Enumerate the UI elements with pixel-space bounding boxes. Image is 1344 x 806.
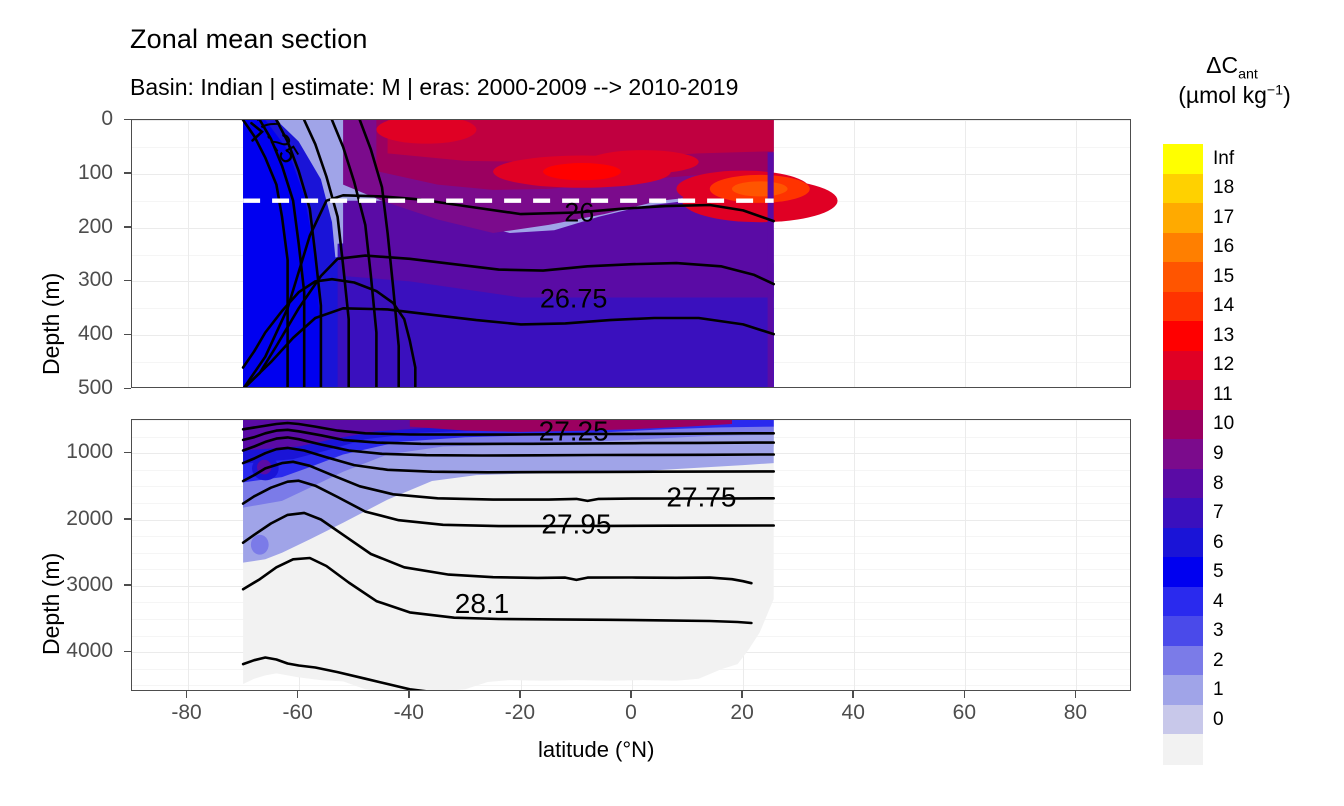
x-tick bbox=[741, 691, 743, 698]
y-tick-label-deep: 4000 bbox=[66, 639, 113, 663]
contour-label: 27.25 bbox=[539, 420, 609, 447]
contour-label: 27.75 bbox=[666, 481, 736, 512]
y-tick-upper bbox=[124, 119, 131, 121]
legend-tick-label: 8 bbox=[1213, 473, 1224, 495]
y-tick-deep bbox=[124, 584, 131, 586]
legend-tick-label: 18 bbox=[1213, 177, 1234, 199]
legend-tick-label: 7 bbox=[1213, 502, 1224, 524]
x-tick bbox=[1075, 691, 1077, 698]
legend-tick-label: 14 bbox=[1213, 295, 1234, 317]
legend-tick-label: 13 bbox=[1213, 325, 1234, 347]
y-tick-label-deep: 1000 bbox=[66, 440, 113, 464]
legend-color-swatch bbox=[1163, 321, 1203, 351]
upper-ocean-panel: 27.252626.75 bbox=[131, 119, 1131, 388]
y-tick-upper bbox=[124, 334, 131, 336]
x-tick bbox=[852, 691, 854, 698]
legend-tick-label: Inf bbox=[1213, 148, 1234, 170]
legend-color-swatch bbox=[1163, 616, 1203, 646]
x-tick bbox=[630, 691, 632, 698]
contour-label: 28.1 bbox=[455, 588, 510, 619]
y-tick-label-upper: 100 bbox=[78, 161, 113, 185]
y-tick-deep bbox=[124, 518, 131, 520]
legend-title-units: (µmol kg−1) bbox=[1142, 82, 1327, 109]
legend-tick-label: 1 bbox=[1213, 679, 1224, 701]
y-tick-deep bbox=[124, 452, 131, 454]
legend-color-swatch bbox=[1163, 469, 1203, 499]
legend-color-swatch bbox=[1163, 292, 1203, 322]
legend-color-swatch bbox=[1163, 203, 1203, 233]
x-tick bbox=[964, 691, 966, 698]
x-tick bbox=[408, 691, 410, 698]
legend-tick-label: 11 bbox=[1213, 384, 1233, 406]
legend-color-swatch bbox=[1163, 557, 1203, 587]
x-tick bbox=[297, 691, 299, 698]
legend-color-swatch bbox=[1163, 144, 1203, 174]
contour-label: 27.95 bbox=[541, 509, 611, 540]
legend-tick-label: 16 bbox=[1213, 236, 1234, 258]
deep-ocean-panel: 27.2527.7527.9528.1 bbox=[131, 419, 1131, 691]
y-tick-label-upper: 300 bbox=[78, 268, 113, 292]
upper-ocean-plot: 27.252626.75 bbox=[132, 120, 1131, 388]
x-tick-label: -20 bbox=[505, 701, 535, 725]
legend-colorbar bbox=[1163, 144, 1203, 764]
legend-tick-label: 12 bbox=[1213, 354, 1234, 376]
y-tick-deep bbox=[124, 651, 131, 653]
x-tick-label: 0 bbox=[625, 701, 637, 725]
legend-tick-label: 5 bbox=[1213, 561, 1224, 583]
legend-color-swatch bbox=[1163, 646, 1203, 676]
legend-tick-label: 10 bbox=[1213, 413, 1234, 435]
y-tick-upper bbox=[124, 388, 131, 390]
x-tick-label: 40 bbox=[842, 701, 865, 725]
x-tick-label: 60 bbox=[953, 701, 976, 725]
legend-color-swatch bbox=[1163, 439, 1203, 469]
y-tick-label-deep: 2000 bbox=[66, 507, 113, 531]
legend-tick-label: 4 bbox=[1213, 591, 1224, 613]
y-tick-upper bbox=[124, 280, 131, 282]
legend-tick-label: 0 bbox=[1213, 709, 1224, 731]
x-tick-label: -80 bbox=[171, 701, 201, 725]
chart-subtitle: Basin: Indian | estimate: M | eras: 2000… bbox=[130, 74, 738, 101]
y-tick-label-upper: 500 bbox=[78, 376, 113, 400]
x-tick-label: -40 bbox=[394, 701, 424, 725]
legend-tick-label: 6 bbox=[1213, 532, 1224, 554]
chart-title: Zonal mean section bbox=[130, 24, 367, 55]
y-tick-label-deep: 3000 bbox=[66, 573, 113, 597]
x-tick-label: 80 bbox=[1064, 701, 1087, 725]
x-tick bbox=[186, 691, 188, 698]
legend-color-swatch bbox=[1163, 174, 1203, 204]
legend-color-swatch bbox=[1163, 587, 1203, 617]
legend-color-swatch bbox=[1163, 410, 1203, 440]
legend-color-swatch bbox=[1163, 528, 1203, 558]
legend-tick-label: 3 bbox=[1213, 620, 1224, 642]
legend-tick-label: 9 bbox=[1213, 443, 1224, 465]
contour-label: 26 bbox=[564, 197, 594, 227]
legend-color-swatch bbox=[1163, 233, 1203, 263]
y-tick-label-upper: 0 bbox=[101, 107, 113, 131]
y-tick-label-upper: 400 bbox=[78, 322, 113, 346]
legend-color-swatch bbox=[1163, 498, 1203, 528]
legend-title-variable: ΔCant bbox=[1152, 52, 1312, 83]
legend-tick-label: 17 bbox=[1213, 207, 1234, 229]
legend-color-swatch bbox=[1163, 380, 1203, 410]
legend-color-swatch bbox=[1163, 734, 1203, 764]
legend-tick-label: 2 bbox=[1213, 650, 1224, 672]
legend-color-swatch bbox=[1163, 675, 1203, 705]
y-axis-label-upper: Depth (m) bbox=[38, 273, 65, 375]
x-tick-label: 20 bbox=[730, 701, 753, 725]
x-tick-label: -60 bbox=[282, 701, 312, 725]
legend-color-swatch bbox=[1163, 351, 1203, 381]
chart-root: Zonal mean section Basin: Indian | estim… bbox=[0, 0, 1344, 806]
legend-color-swatch bbox=[1163, 262, 1203, 292]
x-axis-label: latitude (°N) bbox=[538, 737, 654, 763]
y-tick-upper bbox=[124, 172, 131, 174]
contour-label: 26.75 bbox=[540, 283, 608, 313]
y-axis-label-deep: Depth (m) bbox=[38, 553, 65, 655]
deep-ocean-plot: 27.2527.7527.9528.1 bbox=[132, 420, 1131, 691]
legend-color-swatch bbox=[1163, 705, 1203, 735]
x-tick bbox=[519, 691, 521, 698]
y-tick-upper bbox=[124, 226, 131, 228]
legend-tick-label: 15 bbox=[1213, 266, 1234, 288]
y-tick-label-upper: 200 bbox=[78, 215, 113, 239]
